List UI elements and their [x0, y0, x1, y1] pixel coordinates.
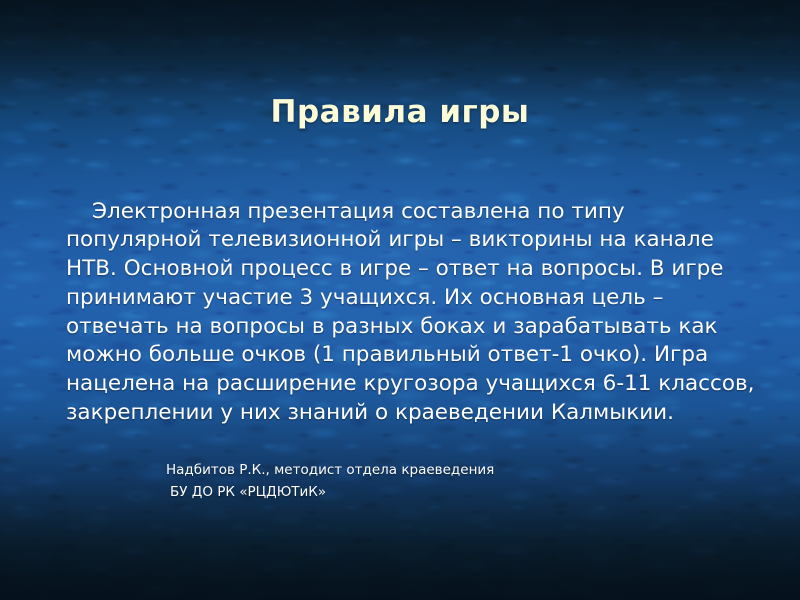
slide-title: Правила игры: [0, 95, 800, 129]
slide-content: Правила игры Электронная презентация сос…: [0, 0, 800, 600]
attribution-author-line: Надбитов Р.К., методист отдела краеведен…: [166, 459, 494, 481]
presentation-slide: Правила игры Электронная презентация сос…: [0, 0, 800, 600]
slide-body-text: Электронная презентация составлена по ти…: [66, 198, 766, 428]
attribution-organization-line: БУ ДО РК «РЦДЮТиК»: [166, 481, 494, 503]
slide-attribution: Надбитов Р.К., методист отдела краеведен…: [166, 459, 494, 503]
